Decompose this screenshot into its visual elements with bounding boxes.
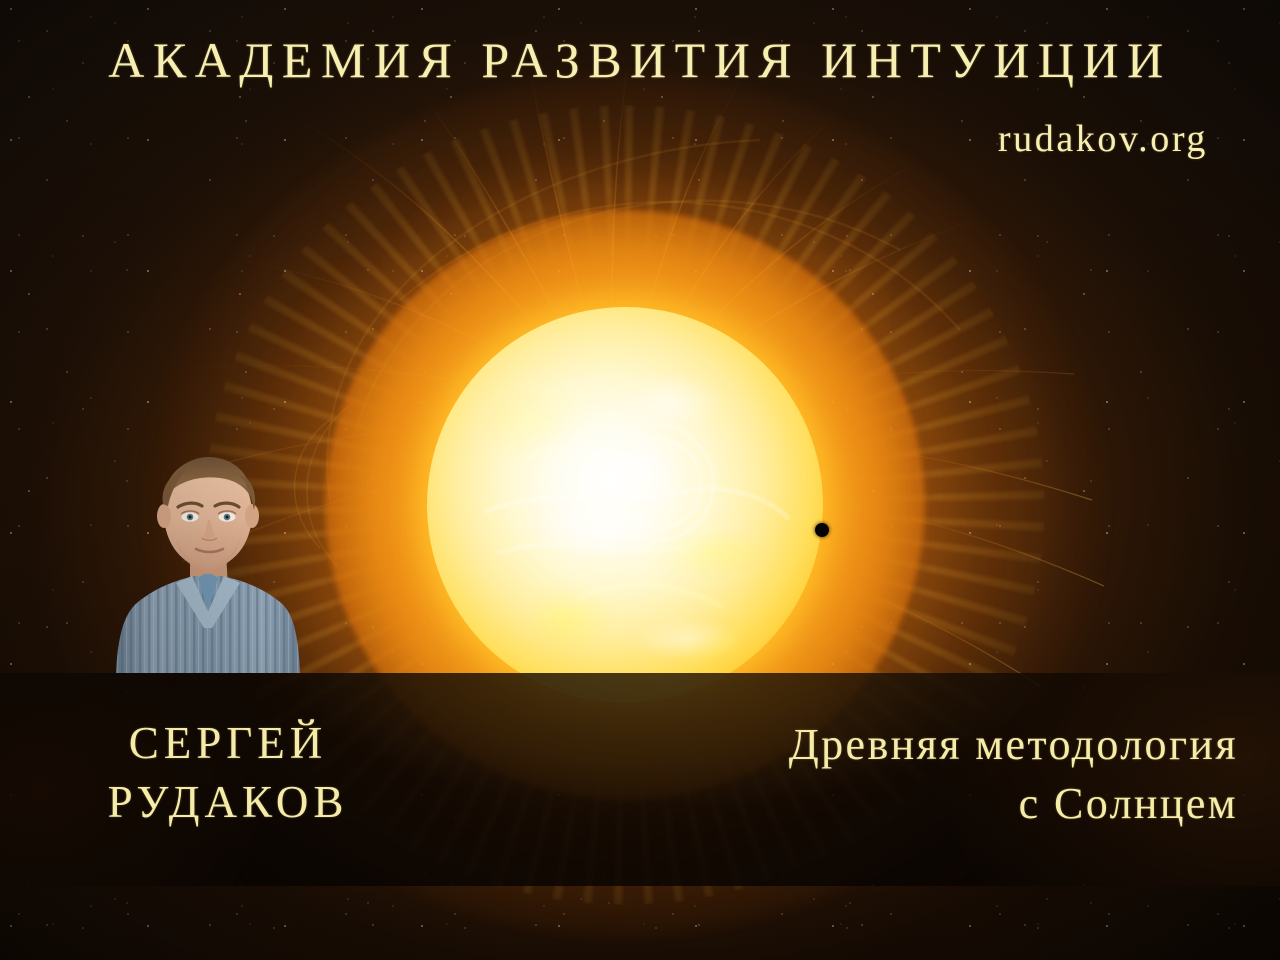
- transiting-planet-dot: [815, 523, 829, 537]
- subject-line-2: с Солнцем: [518, 775, 1238, 834]
- speaker-name: СЕРГЕЙ РУДАКОВ: [18, 714, 438, 831]
- speaker-last-name: РУДАКОВ: [18, 773, 438, 832]
- speaker-first-name: СЕРГЕЙ: [18, 714, 438, 773]
- page-title: АКАДЕМИЯ РАЗВИТИЯ ИНТУИЦИИ: [0, 35, 1280, 85]
- subject-line-1: Древняя методология: [518, 716, 1238, 775]
- speaker-portrait: [94, 452, 322, 673]
- website-url[interactable]: rudakov.org: [998, 120, 1208, 158]
- subject-title: Древняя методология с Солнцем: [518, 716, 1238, 833]
- slide-canvas: АКАДЕМИЯ РАЗВИТИЯ ИНТУИЦИИ rudakov.org С…: [0, 0, 1280, 960]
